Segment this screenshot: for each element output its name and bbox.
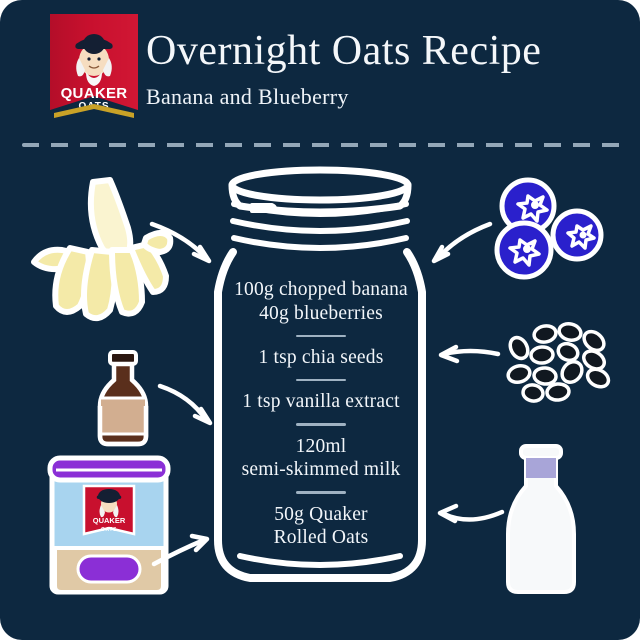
ingredient-line: 50g Quaker <box>196 503 446 527</box>
arrow-chia-to-jar-icon <box>441 347 498 361</box>
svg-text:OATS: OATS <box>101 527 117 533</box>
ingredient-line: Rolled Oats <box>196 526 446 550</box>
ingredient-line: 100g chopped banana <box>196 278 446 302</box>
ingredient-line: 120ml <box>196 435 446 459</box>
ingredient-list: 100g chopped banana 40g blueberries 1 ts… <box>196 278 446 550</box>
ingredient-group: 1 tsp chia seeds <box>196 346 446 370</box>
ingredient-divider <box>296 423 346 426</box>
ingredient-divider <box>296 491 346 494</box>
ingredient-line: semi-skimmed milk <box>196 458 446 482</box>
peeled-banana-icon <box>34 180 170 318</box>
ingredient-group: 120ml semi-skimmed milk <box>196 435 446 483</box>
milk-bottle-icon <box>508 446 574 592</box>
recipe-card: QUAKER OATS Overnight Oats Recipe Banana… <box>0 0 640 640</box>
ingredient-divider <box>296 379 346 382</box>
ingredient-line: 1 tsp chia seeds <box>196 346 446 370</box>
ingredient-line: 40g blueberries <box>196 302 446 326</box>
ingredient-line: 1 tsp vanilla extract <box>196 390 446 414</box>
arrow-milk-to-jar-icon <box>440 506 502 521</box>
vanilla-extract-bottle-icon <box>100 352 146 444</box>
ingredient-group: 50g Quaker Rolled Oats <box>196 503 446 551</box>
ingredient-group: 1 tsp vanilla extract <box>196 390 446 414</box>
arrow-blueberries-to-jar-icon <box>434 224 490 261</box>
ingredient-divider <box>296 335 346 338</box>
blueberries-icon <box>497 180 601 277</box>
svg-text:QUAKER: QUAKER <box>93 516 126 525</box>
quaker-oats-canister-icon: QUAKER OATS <box>50 458 168 592</box>
ingredient-group: 100g chopped banana 40g blueberries <box>196 278 446 326</box>
chia-seeds-icon <box>506 322 611 403</box>
